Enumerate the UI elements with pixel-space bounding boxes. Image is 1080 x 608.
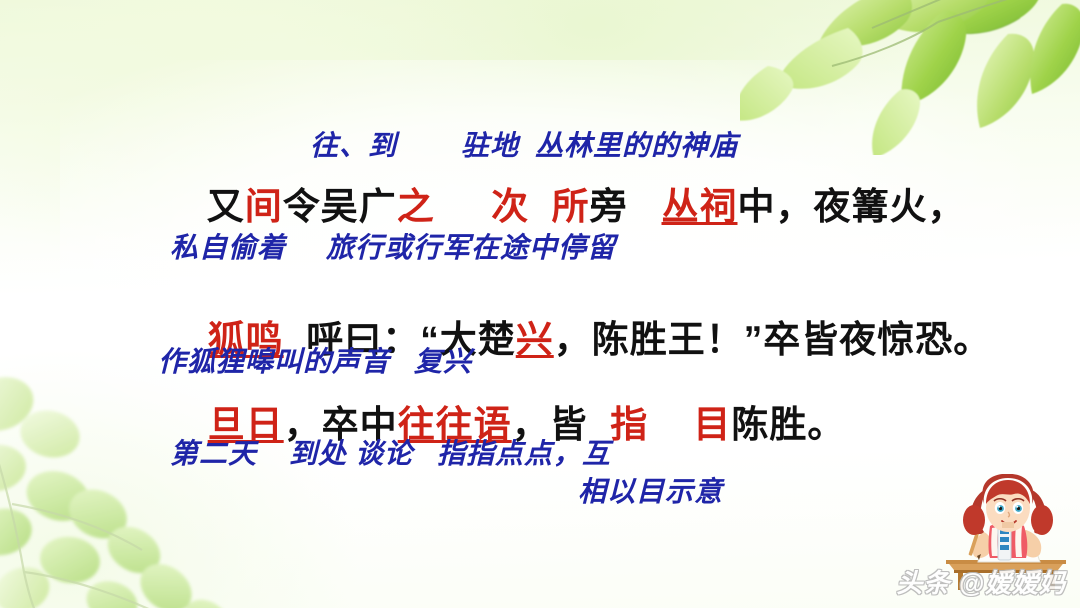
- m1-congci: 丛祠: [662, 186, 738, 227]
- annotation-b3-daochu: 到处 谈论: [289, 439, 413, 470]
- annotation-b1-lvxing: 旅行或行军在途中停留: [326, 233, 616, 264]
- annotation-b3-dierday: 第二天: [170, 439, 257, 470]
- lesson-text-content: 往、到 驻地 丛林里的的神庙 又间令吴广之 次 所旁 丛祠中，夜篝火， 私自偷着…: [0, 0, 1080, 608]
- m1-zhong-ye-gouhuo: 中，夜篝火，: [738, 186, 966, 227]
- pigtail-right: [1031, 505, 1053, 535]
- slide-canvas: 往、到 驻地 丛林里的的神庙 又间令吴广之 次 所旁 丛祠中，夜篝火， 私自偷着…: [0, 0, 1080, 608]
- annotation-b3-bottom-line2: 相以目示意: [530, 438, 723, 542]
- annotation-b1-sizi: 私自偷着: [170, 233, 286, 264]
- m3-chensheng: 陈胜。: [731, 404, 845, 445]
- annotation-b3-xiangyi: 相以目示意: [578, 477, 723, 508]
- watermark-text: 头条 @嫒嫒妈: [896, 563, 1066, 600]
- pigtail-left: [963, 505, 985, 535]
